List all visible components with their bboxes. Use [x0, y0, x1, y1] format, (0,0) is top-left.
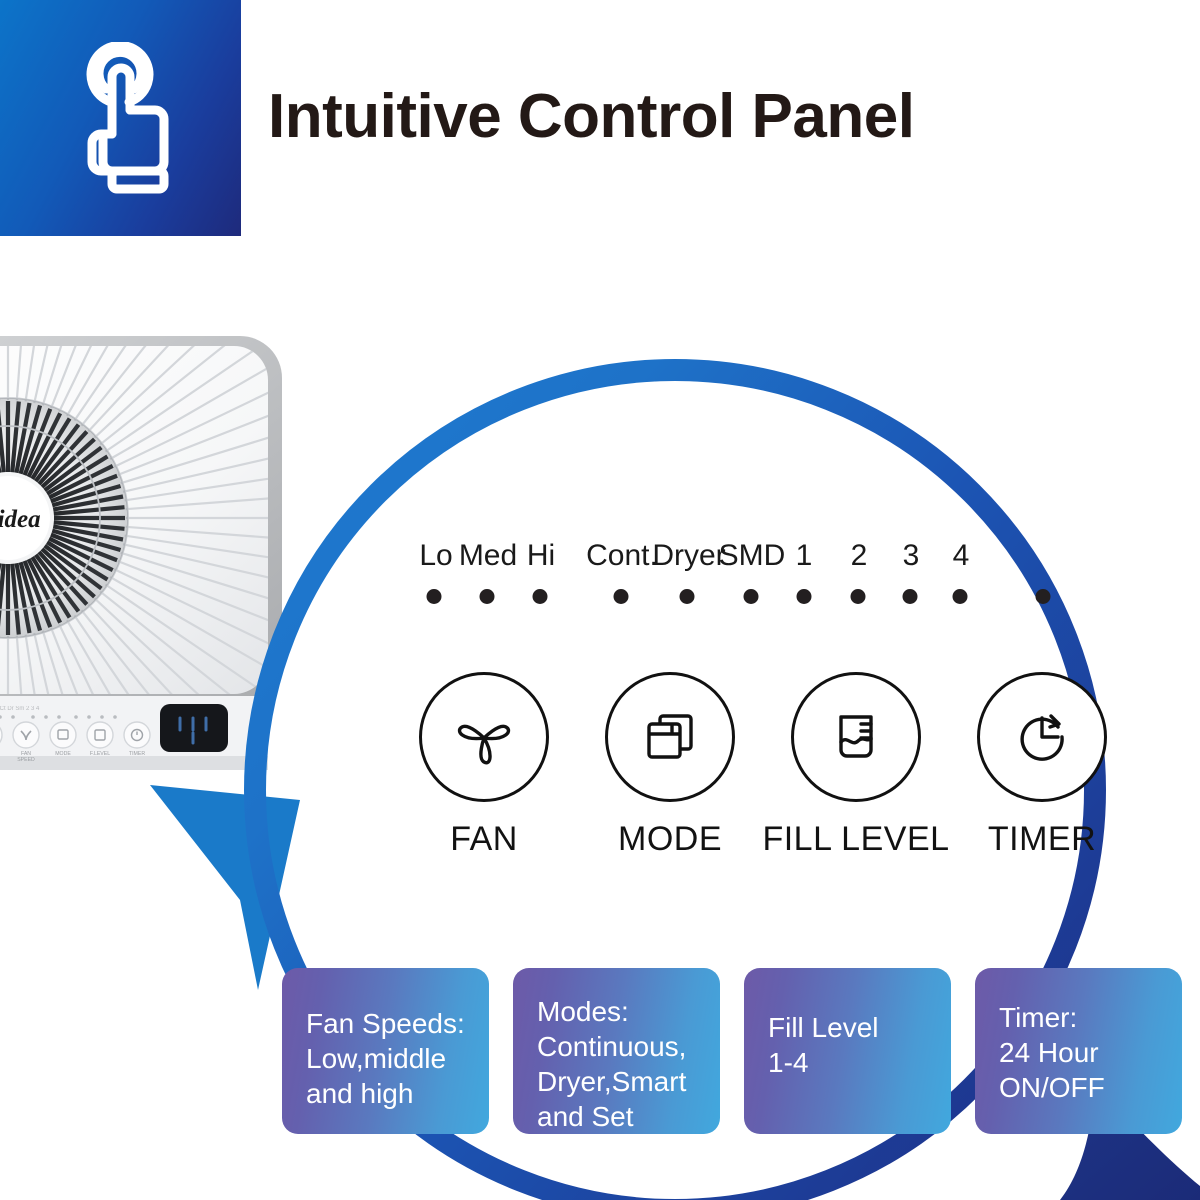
led-label-smd: SMD: [719, 538, 786, 574]
led-label-1: 1: [796, 538, 813, 574]
led-dot-9: [903, 589, 918, 604]
feature-card-timer: Timer: 24 Hour ON/OFF: [975, 968, 1182, 1134]
fan-button: [13, 722, 39, 748]
led-label-4: 4: [953, 538, 970, 574]
led-label-row: Lo Med Hi Cont. Dryer SMD 1 2 3 4: [408, 538, 1068, 576]
led-label-cont: Cont.: [586, 538, 658, 574]
control-label-fill-level: FILL LEVEL: [762, 820, 949, 858]
svg-text:F.LEVEL: F.LEVEL: [90, 751, 110, 757]
led-label-3: 3: [903, 538, 920, 574]
led-dot-4: [614, 589, 629, 604]
led-dot-7: [797, 589, 812, 604]
control-timer[interactable]: TIMER: [966, 672, 1118, 858]
led-dot-1: [427, 589, 442, 604]
control-mode[interactable]: MODE: [594, 672, 746, 858]
feature-card-fan-speeds: Fan Speeds: Low,middle and high: [282, 968, 489, 1134]
led-label-med: Med: [459, 538, 517, 574]
feature-card-row: Fan Speeds: Low,middle and high Modes: C…: [282, 968, 1182, 1134]
feature-card-fill-level: Fill Level 1-4: [744, 968, 951, 1134]
product-led-labels: Lo Hi Ct Dr Sm 2 3 4: [0, 706, 40, 712]
led-dot-5: [680, 589, 695, 604]
feature-card-modes: Modes: Continuous, Dryer,Smart and Set: [513, 968, 720, 1134]
led-dot-10: [953, 589, 968, 604]
mode-button: [50, 722, 76, 748]
svg-text:MODE: MODE: [55, 751, 71, 757]
callout-pointer-wedge: [150, 785, 300, 990]
header-icon-badge: [0, 0, 241, 236]
mode-icon-circle[interactable]: [605, 672, 735, 802]
infographic-canvas: Intuitive Control Panel: [0, 0, 1200, 1200]
led-indicator-panel: Lo Med Hi Cont. Dryer SMD 1 2 3 4: [408, 538, 1068, 615]
control-label-mode: MODE: [618, 820, 722, 858]
timer-clock-icon: [1005, 700, 1079, 774]
control-label-timer: TIMER: [988, 820, 1096, 858]
mode-windows-icon: [633, 700, 707, 774]
led-dot-8: [851, 589, 866, 604]
control-label-fan: FAN: [450, 820, 518, 858]
product-image: Midea Lo Hi Ct Dr Sm 2 3 4: [0, 318, 388, 808]
led-label-hi: Hi: [527, 538, 555, 574]
control-fan[interactable]: FAN: [408, 672, 560, 858]
midea-logo-text: Midea: [0, 506, 41, 533]
control-icon-row: FAN MODE: [408, 672, 1118, 858]
led-dot-row: [408, 589, 1068, 615]
led-dot-3: [533, 589, 548, 604]
page-title: Intuitive Control Panel: [268, 86, 914, 148]
timer-icon-circle[interactable]: [977, 672, 1107, 802]
fill-level-button: [87, 722, 113, 748]
led-dot-11: [1036, 589, 1051, 604]
led-label-lo: Lo: [419, 538, 452, 574]
fill-level-icon-circle[interactable]: [791, 672, 921, 802]
svg-text:TIMER: TIMER: [129, 751, 145, 757]
fan-icon-circle[interactable]: [419, 672, 549, 802]
fan-blade-icon: [447, 700, 521, 774]
led-dot-2: [480, 589, 495, 604]
led-dot-6: [744, 589, 759, 604]
led-label-2: 2: [851, 538, 868, 574]
control-fill-level[interactable]: FILL LEVEL: [780, 672, 932, 858]
svg-text:SPEED: SPEED: [17, 757, 35, 763]
touch-tap-hand-icon: [65, 42, 177, 194]
fill-level-beaker-icon: [819, 700, 893, 774]
midea-dehumidifier-illustration: Midea Lo Hi Ct Dr Sm 2 3 4: [0, 318, 388, 808]
led-label-dryer: Dryer: [652, 538, 725, 574]
